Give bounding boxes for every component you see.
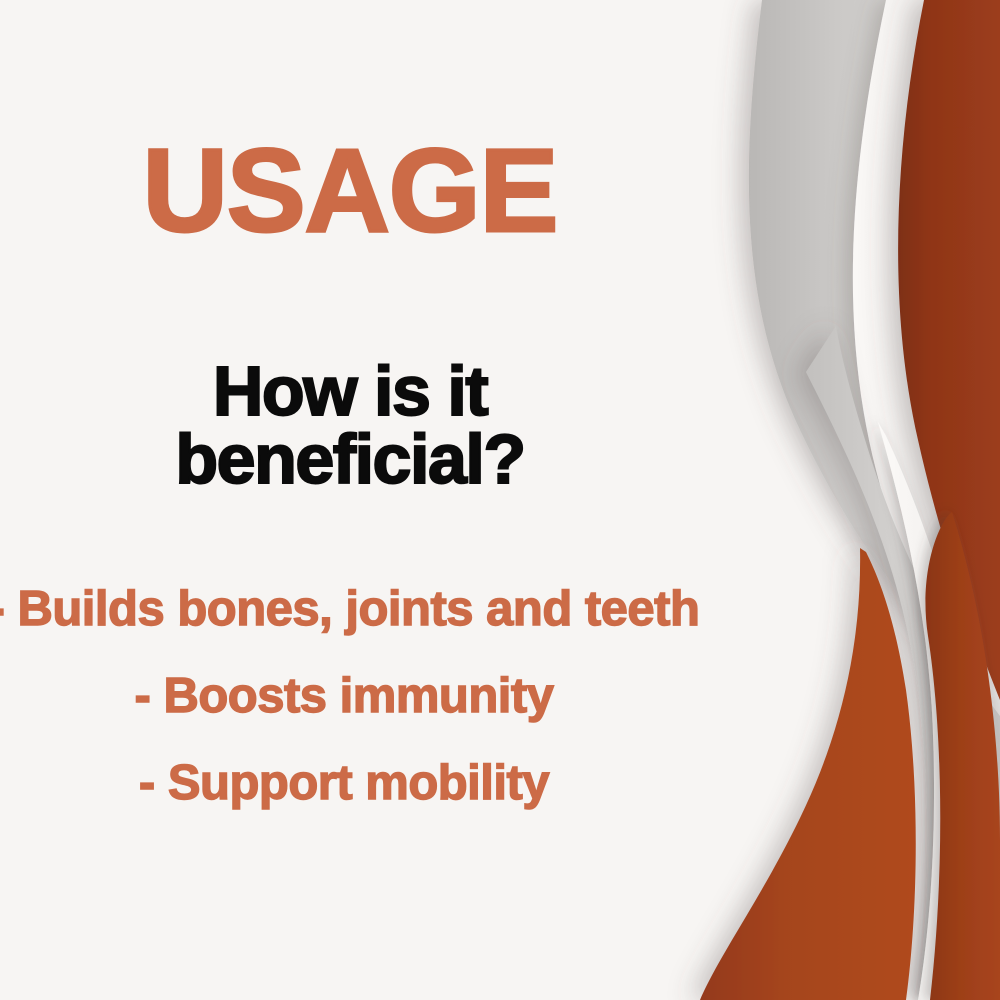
poster-content: USAGE How is it beneficial? - Builds bon… xyxy=(0,0,700,1000)
list-item: - Builds bones, joints and teeth xyxy=(0,585,700,634)
list-item: - Boosts immunity xyxy=(0,672,700,721)
wave-layer-rust-lower-left xyxy=(700,548,916,1000)
wave-layer-white-back xyxy=(853,0,1000,760)
subheading: How is it beneficial? xyxy=(0,358,700,494)
poster-canvas: USAGE How is it beneficial? - Builds bon… xyxy=(0,0,1000,1000)
wave-layer-gray-back xyxy=(749,0,1000,690)
wave-layer-gray-mid xyxy=(806,326,1000,1000)
page-title: USAGE xyxy=(0,132,700,250)
benefits-list: - Builds bones, joints and teeth - Boost… xyxy=(0,585,700,808)
wave-layer-rust-bottom-right xyxy=(925,512,1000,1000)
list-item: - Support mobility xyxy=(0,759,700,808)
wave-layer-white-mid xyxy=(878,422,997,1000)
wave-layer-rust-top xyxy=(898,0,1000,700)
